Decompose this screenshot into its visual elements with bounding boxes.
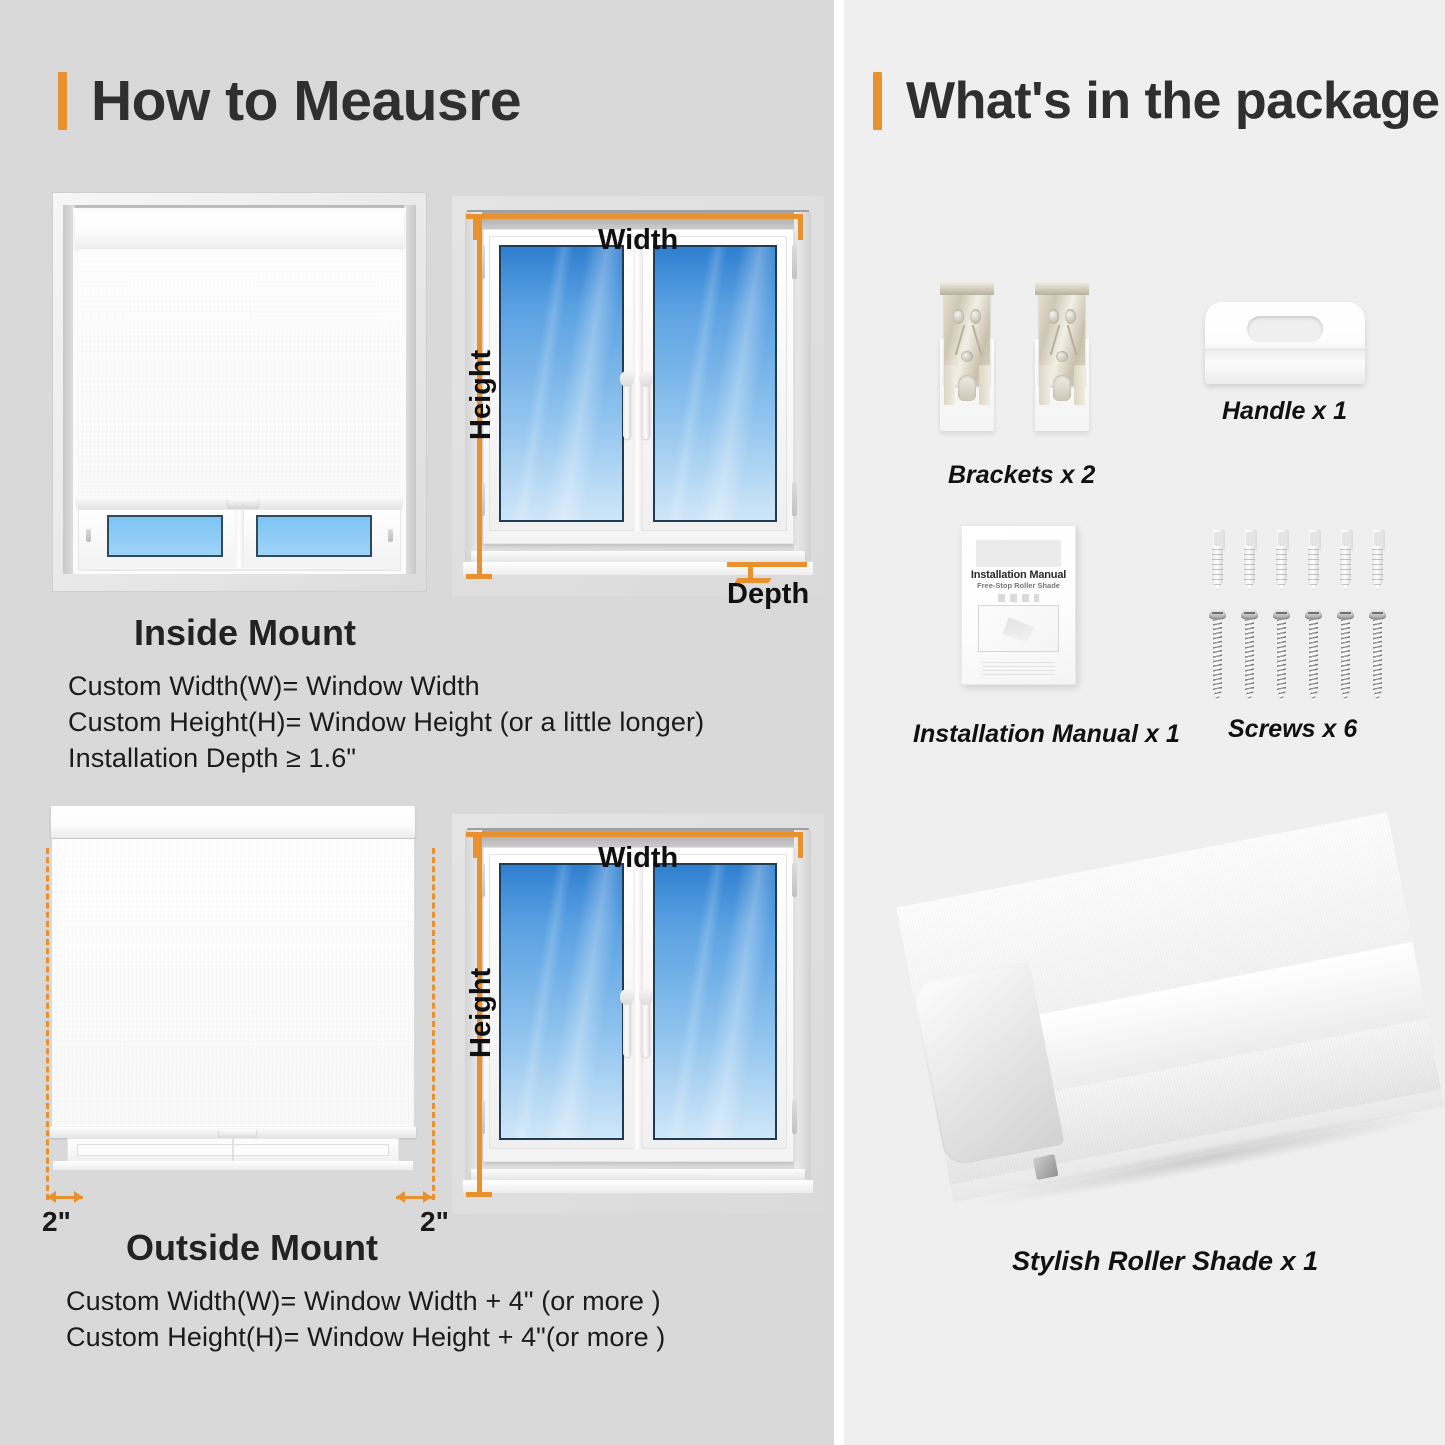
infographic-page: How to Meausre What's in the package <box>0 0 1445 1445</box>
shade-fabric <box>52 839 414 1128</box>
package-heading: What's in the package <box>873 72 1440 130</box>
accent-bar-icon <box>873 72 882 130</box>
screw-head <box>1209 608 1226 620</box>
manual-cover-illustration <box>978 605 1059 652</box>
roller-shade-label: Stylish Roller Shade x 1 <box>1012 1246 1318 1277</box>
height-measure-cap-bottom <box>466 574 492 579</box>
how-to-measure-heading-label: How to Meausre <box>91 73 521 130</box>
window-hinge-left <box>86 529 91 543</box>
manual-cover-footer-text <box>982 662 1054 675</box>
window-glass-right <box>653 863 778 1140</box>
bracket-tab-left <box>944 365 955 405</box>
window-pane-left <box>107 515 223 557</box>
anchor-body <box>1340 549 1351 590</box>
bracket-top-lip <box>1035 281 1089 295</box>
anchor-head <box>1242 530 1257 550</box>
width-measure-line <box>473 832 803 837</box>
manual-cover-title: Installation Manual <box>962 569 1075 581</box>
width-measure-line <box>473 214 803 219</box>
bracket-hole <box>953 309 964 324</box>
anchor-body <box>1372 549 1383 590</box>
screw-shaft <box>1213 619 1222 702</box>
bracket-keyhole <box>1053 375 1071 401</box>
anchor-body <box>1212 549 1223 590</box>
window-hinge-icon <box>792 245 797 279</box>
window-frame <box>483 847 794 1162</box>
overhang-right-label: 2" <box>420 1206 449 1238</box>
window-hinge-icon <box>792 482 797 516</box>
manual-icon: Installation Manual Free-Stop Roller Sha… <box>961 525 1076 685</box>
overhang-left-label: 2" <box>42 1206 71 1238</box>
window-sash-left <box>489 854 634 1150</box>
shade-valance <box>51 806 416 838</box>
window-handle-icon <box>642 995 650 1057</box>
handle-icon <box>1205 302 1365 384</box>
screw-icon <box>1369 608 1386 702</box>
window-handle-icon <box>623 377 631 439</box>
screw-head <box>1273 608 1290 620</box>
window-hinge-icon <box>792 1100 797 1134</box>
outside-mount-line-1: Custom Width(W)= Window Width + 4" (or m… <box>66 1286 661 1317</box>
anchor-head <box>1210 530 1225 550</box>
height-measure-cap-top <box>466 832 492 837</box>
bracket-hole <box>1065 309 1076 324</box>
screw-icon <box>1305 608 1322 702</box>
overhang-guide-left <box>46 848 49 1200</box>
accent-bar-icon <box>58 72 67 130</box>
inside-mount-line-1: Custom Width(W)= Window Width <box>68 671 480 702</box>
width-measure-cap-right <box>798 832 803 858</box>
window-sash-left <box>489 236 634 532</box>
anchor-head <box>1338 530 1353 550</box>
shade-pull-handle-icon <box>228 498 258 508</box>
outside-mount-line-2: Custom Height(H)= Window Height + 4"(or … <box>66 1322 665 1353</box>
height-measure-cap-bottom <box>466 1192 492 1197</box>
recess-right <box>794 212 811 564</box>
height-label: Height <box>465 350 498 440</box>
screw-shaft <box>1341 619 1350 702</box>
screw-icon <box>1241 608 1258 702</box>
overhang-guide-right <box>432 848 435 1200</box>
handle-label: Handle x 1 <box>1222 397 1347 426</box>
bracket-icon <box>1035 281 1089 431</box>
wall-anchor-icon <box>1242 530 1257 590</box>
panel-divider <box>834 0 844 1445</box>
window-mullion <box>235 510 245 570</box>
shade-fabric <box>78 249 401 497</box>
inside-mount-shade-illustration <box>52 192 427 592</box>
bracket-tab-right <box>979 365 990 405</box>
bracket-hole <box>961 351 973 362</box>
screw-head <box>1337 608 1354 620</box>
outside-mount-title: Outside Mount <box>126 1227 378 1269</box>
bracket-top-lip <box>940 281 994 295</box>
anchor-body <box>1276 549 1287 590</box>
screw-icon <box>1337 608 1354 702</box>
shade-valance <box>75 212 404 248</box>
wall-anchor-icon <box>1338 530 1353 590</box>
bracket-hole <box>1056 351 1068 362</box>
brackets-label: Brackets x 2 <box>948 461 1095 490</box>
window-handle-icon <box>623 995 631 1057</box>
how-to-measure-heading: How to Meausre <box>58 72 521 130</box>
depth-label: Depth <box>727 578 809 611</box>
inside-mount-line-2: Custom Height(H)= Window Height (or a li… <box>68 707 704 738</box>
bracket-tab-right <box>1074 365 1085 405</box>
manual-label: Installation Manual x 1 <box>913 720 1180 749</box>
bracket-hole <box>970 309 981 324</box>
window-hinge-icon <box>792 863 797 897</box>
anchor-head <box>1274 530 1289 550</box>
height-measure-cap-top <box>466 214 492 219</box>
screw-shaft <box>1309 619 1318 702</box>
window-glass-right <box>653 245 778 522</box>
window-sash-right <box>642 236 787 532</box>
recess-right <box>794 830 811 1182</box>
screw-head <box>1241 608 1258 620</box>
window-frame <box>483 229 794 544</box>
depth-measure-line <box>727 562 807 567</box>
window-sash-right <box>642 854 787 1150</box>
package-heading-label: What's in the package <box>906 75 1440 127</box>
wall-anchor-icon <box>1370 530 1385 590</box>
window-sill-ledge <box>463 1180 813 1193</box>
screw-head <box>1369 608 1386 620</box>
anchor-body <box>1308 549 1319 590</box>
overhang-arrow-left <box>47 1196 83 1199</box>
manual-cover-subtitle: Free-Stop Roller Shade <box>962 581 1075 590</box>
manual-cover-band <box>976 540 1062 567</box>
anchor-head <box>1370 530 1385 550</box>
window-hinge-right <box>388 529 393 543</box>
inside-mount-title: Inside Mount <box>134 612 356 654</box>
wall-anchor-icon <box>1306 530 1321 590</box>
screws-label: Screws x 6 <box>1228 715 1357 744</box>
width-measure-cap-right <box>798 214 803 240</box>
bracket-tab-left <box>1039 365 1050 405</box>
outside-mount-shade-illustration <box>28 806 438 1204</box>
window-glass-left <box>499 245 624 522</box>
width-label: Width <box>598 842 678 875</box>
manual-cover-scribble <box>998 594 1039 602</box>
window-sill-split <box>232 1138 234 1162</box>
width-label: Width <box>598 224 678 257</box>
anchor-body <box>1244 549 1255 590</box>
bracket-icon <box>940 281 994 431</box>
screw-head <box>1305 608 1322 620</box>
screw-shaft <box>1373 619 1382 702</box>
screw-icon <box>1209 608 1226 702</box>
window-sill <box>67 1138 399 1162</box>
bracket-keyhole <box>958 375 976 401</box>
screw-shaft <box>1277 619 1286 702</box>
wall-anchor-icon <box>1210 530 1225 590</box>
overhang-arrow-right <box>396 1196 432 1199</box>
height-label: Height <box>465 968 498 1058</box>
window-sill-ledge <box>53 1161 414 1170</box>
lower-window-area <box>78 509 401 571</box>
anchor-head <box>1306 530 1321 550</box>
window-glass-left <box>499 863 624 1140</box>
window-handle-icon <box>642 377 650 439</box>
screw-icon <box>1273 608 1290 702</box>
handle-grip-hole <box>1247 316 1323 342</box>
window-sill <box>91 568 388 570</box>
wall-anchor-icon <box>1274 530 1289 590</box>
screw-shaft <box>1245 619 1254 702</box>
inside-mount-line-3: Installation Depth ≥ 1.6" <box>68 743 356 774</box>
window-pane-right <box>256 515 372 557</box>
bracket-hole <box>1048 309 1059 324</box>
